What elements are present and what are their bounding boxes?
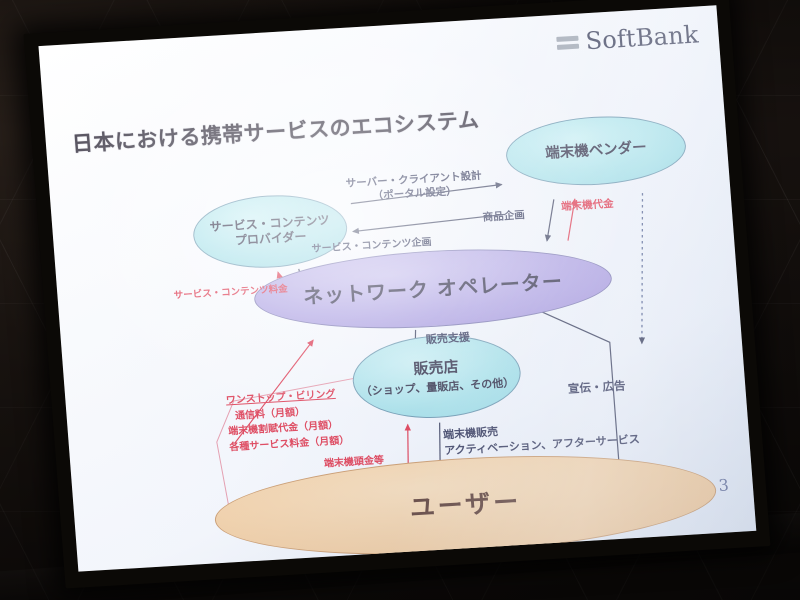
label-product-planning: 商品企画 <box>482 209 525 225</box>
label-sales-support: 販売支援 <box>425 331 470 348</box>
page-number: 3 <box>718 475 730 495</box>
node-shop-label-line1: 販売店 <box>413 358 459 379</box>
photo-scene: SoftBank 日本における携帯サービスのエコシステム <box>0 0 800 600</box>
node-user-label: ユーザー <box>409 486 523 524</box>
projection-screen: SoftBank 日本における携帯サービスのエコシステム <box>24 0 771 588</box>
node-network-operator-label: ネットワーク オペレーター <box>302 269 563 310</box>
label-one-stop-billing: ワンストップ・ビリング 通信料（月額） 端末機割賦代金（月額） 各種サービス料金… <box>225 386 349 455</box>
node-scp-label-line2: プロバイダー <box>234 229 307 248</box>
node-vendor-label: 端末機ベンダー <box>545 139 648 163</box>
slide-canvas: SoftBank 日本における携帯サービスのエコシステム <box>38 5 756 571</box>
node-shop-label-line2: （ショップ、量販店、その他） <box>360 376 514 399</box>
slide-content: SoftBank 日本における携帯サービスのエコシステム <box>38 5 756 571</box>
